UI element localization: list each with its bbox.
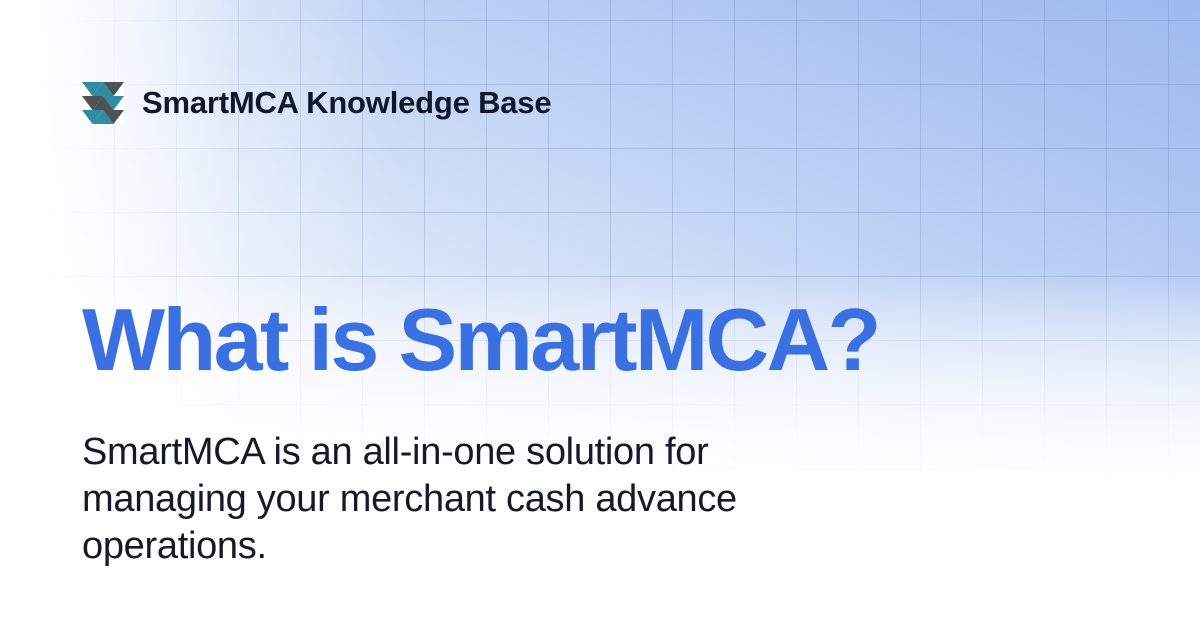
page-subtitle: SmartMCA is an all-in-one solution for m…: [82, 429, 772, 570]
brand-header: SmartMCA Knowledge Base: [82, 82, 551, 124]
og-card: SmartMCA Knowledge Base What is SmartMCA…: [0, 0, 1200, 630]
page-title: What is SmartMCA?: [82, 292, 879, 388]
brand-title: SmartMCA Knowledge Base: [142, 82, 551, 124]
smartmca-chevron-logo-icon: [82, 82, 124, 124]
card-content: SmartMCA Knowledge Base What is SmartMCA…: [0, 0, 1200, 630]
